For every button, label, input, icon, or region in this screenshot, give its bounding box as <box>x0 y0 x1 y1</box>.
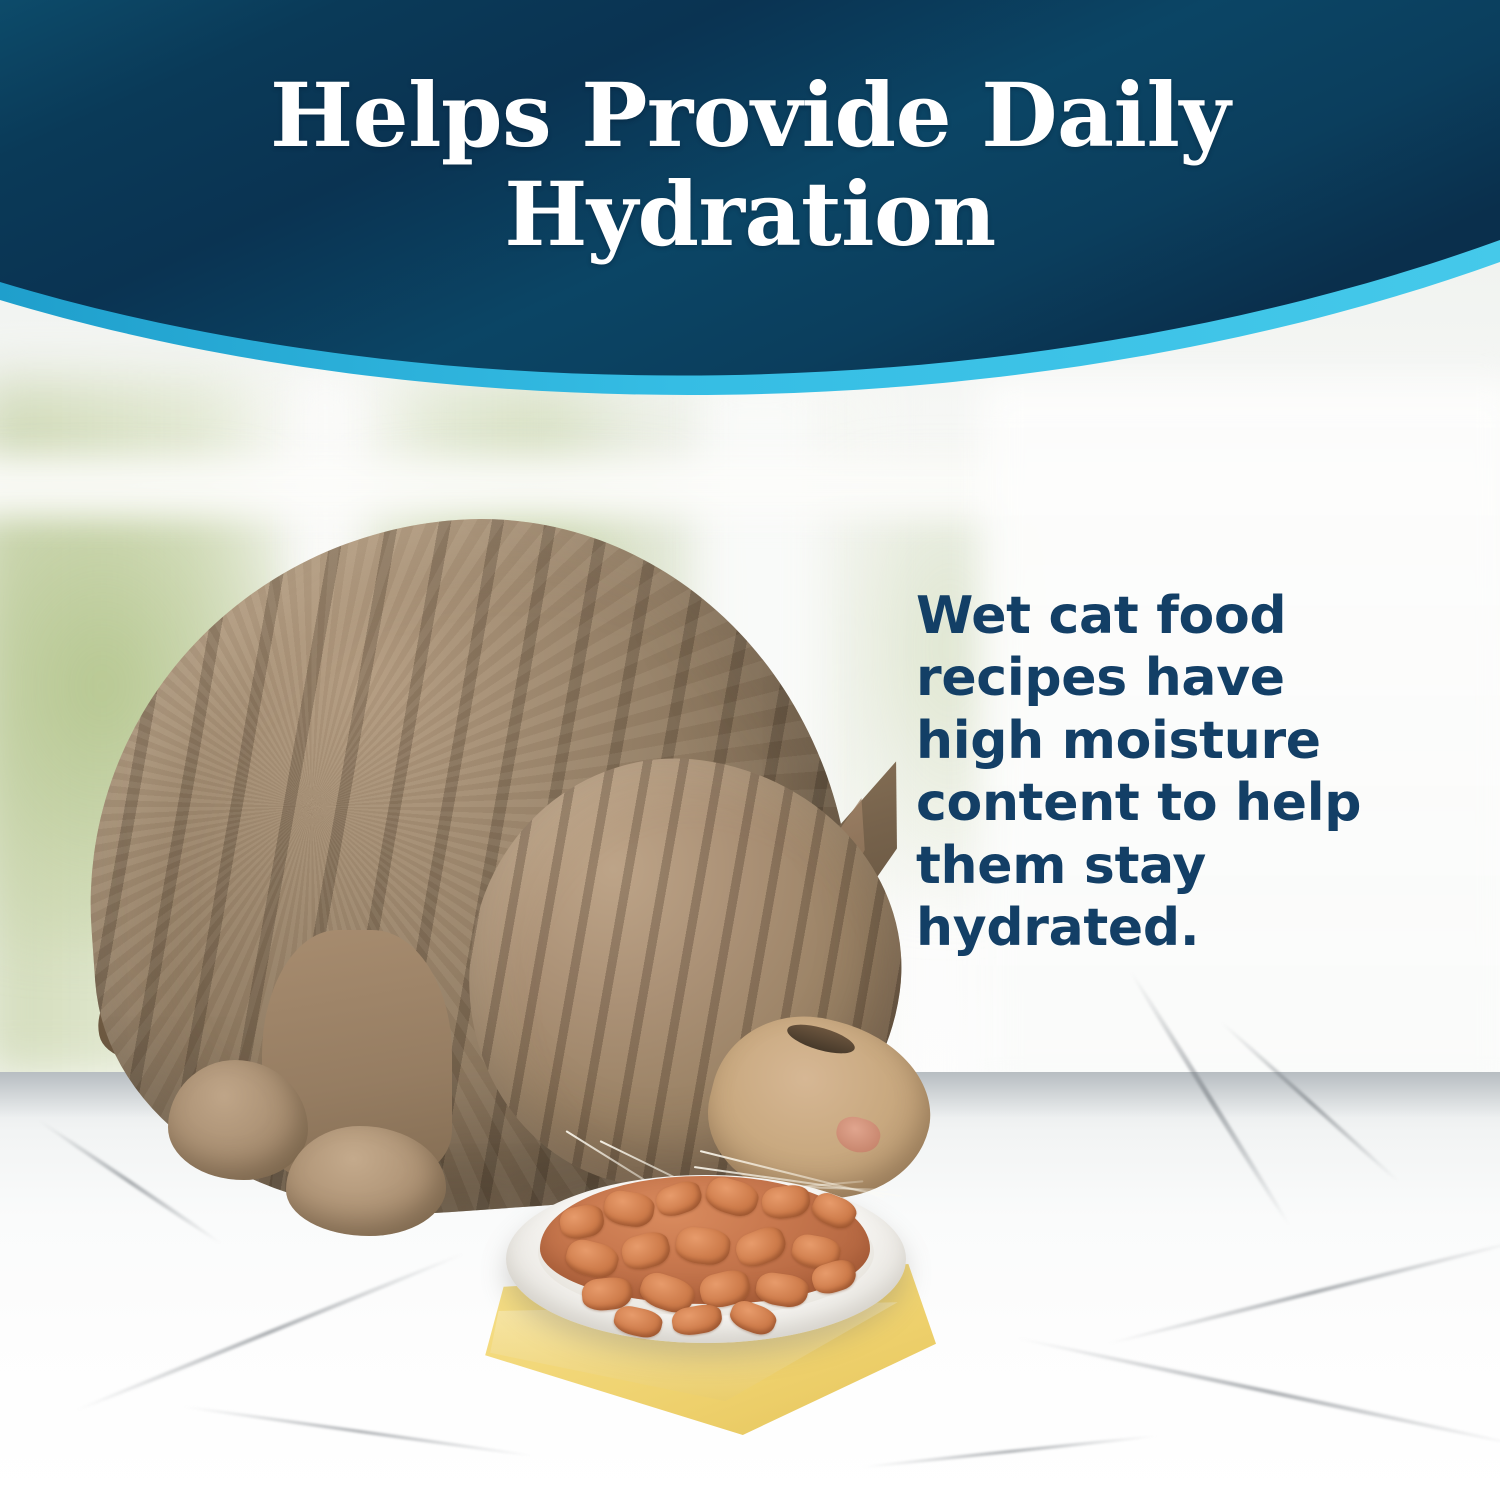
window-mullion-horizontal <box>0 455 1020 517</box>
promo-graphic: Helps Provide Daily Hydration Wet cat fo… <box>0 0 1500 1500</box>
body-paragraph: Wet cat food recipes have high moisture … <box>916 585 1386 959</box>
